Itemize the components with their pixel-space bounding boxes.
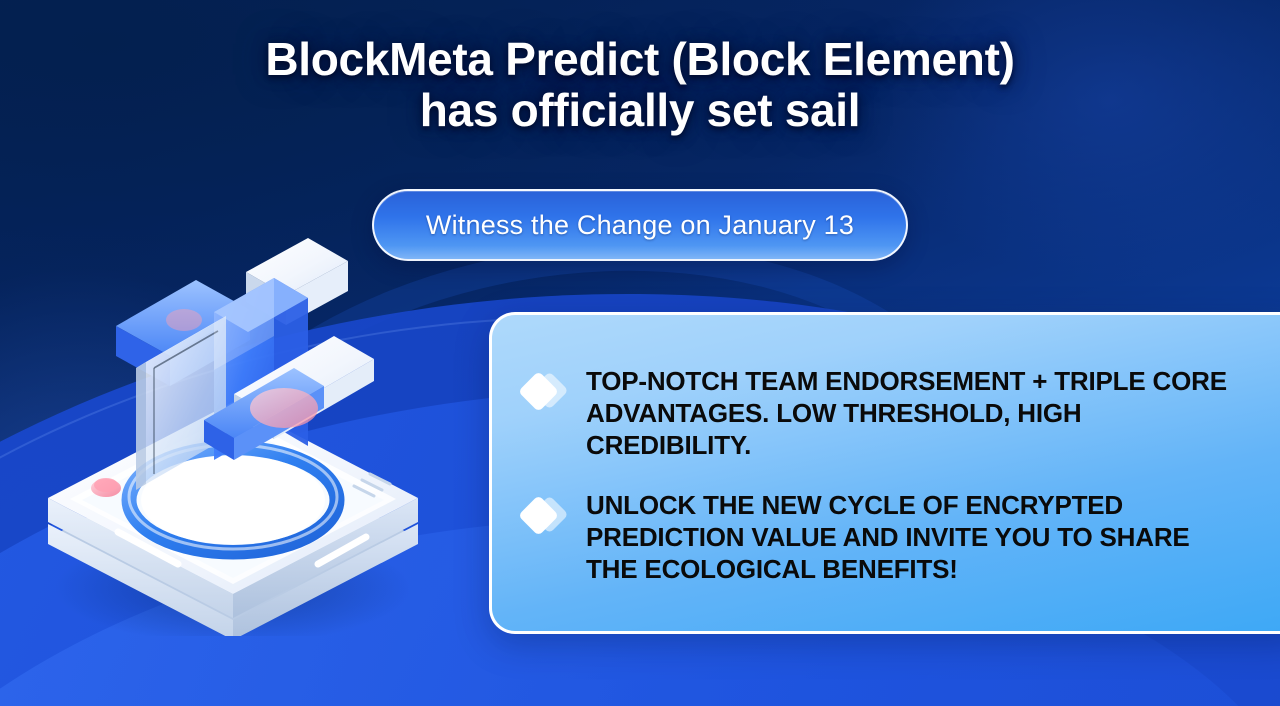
promo-banner: BlockMeta Predict (Block Element) has of… bbox=[0, 0, 1280, 706]
isometric-blockchain-platform-illustration bbox=[18, 216, 448, 636]
features-card: TOP-NOTCH TEAM ENDORSEMENT + TRIPLE CORE… bbox=[489, 312, 1280, 634]
page-title: BlockMeta Predict (Block Element) has of… bbox=[0, 34, 1280, 136]
list-item: UNLOCK THE NEW CYCLE OF ENCRYPTED PREDIC… bbox=[522, 489, 1269, 585]
list-item: TOP-NOTCH TEAM ENDORSEMENT + TRIPLE CORE… bbox=[522, 365, 1269, 461]
double-diamond-icon bbox=[522, 369, 568, 415]
event-date-pill[interactable]: Witness the Change on January 13 bbox=[372, 189, 908, 261]
feature-text: UNLOCK THE NEW CYCLE OF ENCRYPTED PREDIC… bbox=[586, 489, 1246, 585]
event-date-label: Witness the Change on January 13 bbox=[426, 210, 854, 241]
feature-text: TOP-NOTCH TEAM ENDORSEMENT + TRIPLE CORE… bbox=[586, 365, 1246, 461]
double-diamond-icon bbox=[522, 493, 568, 539]
